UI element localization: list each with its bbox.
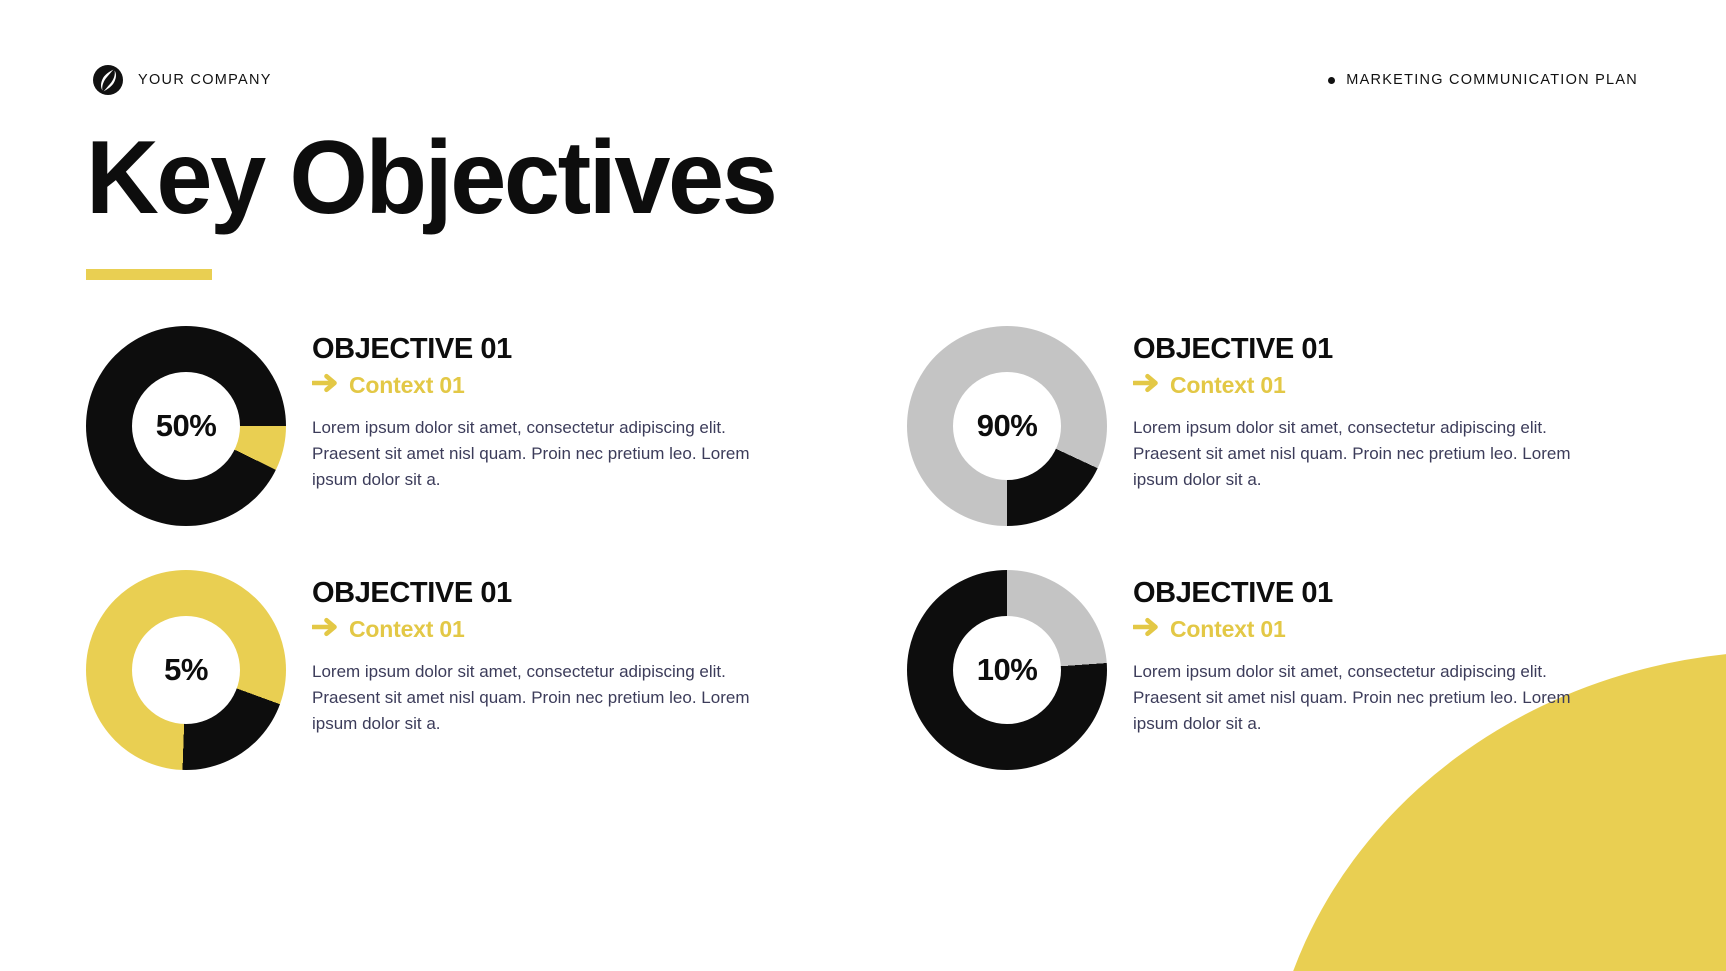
- slide: YOUR COMPANY MARKETING COMMUNICATION PLA…: [0, 0, 1726, 971]
- objective-text: OBJECTIVE 01 Context 01 Lorem ipsum dolo…: [1133, 322, 1603, 492]
- header-tagline: MARKETING COMMUNICATION PLAN: [1346, 72, 1638, 88]
- donut-center: 50%: [132, 372, 240, 480]
- objective-context-label: Context 01: [1170, 616, 1286, 643]
- page-title: Key Objectives: [86, 126, 775, 230]
- donut-value: 50%: [156, 408, 217, 444]
- donut-chart-3: 5%: [86, 570, 286, 770]
- objective-title: OBJECTIVE 01: [1133, 578, 1603, 610]
- donut-center: 10%: [953, 616, 1061, 724]
- donut-chart-1: 50%: [86, 326, 286, 526]
- arrow-right-icon: [312, 373, 338, 398]
- donut-chart-2: 90%: [907, 326, 1107, 526]
- donut-value: 90%: [977, 408, 1038, 444]
- donut-value: 10%: [977, 652, 1038, 688]
- bullet-dot-icon: [1328, 77, 1335, 84]
- objective-body: Lorem ipsum dolor sit amet, consectetur …: [1133, 659, 1603, 736]
- slide-header: YOUR COMPANY MARKETING COMMUNICATION PLA…: [92, 62, 1638, 98]
- objective-title: OBJECTIVE 01: [1133, 334, 1603, 366]
- objective-body: Lorem ipsum dolor sit amet, consectetur …: [312, 415, 782, 492]
- objective-body: Lorem ipsum dolor sit amet, consectetur …: [312, 659, 782, 736]
- objective-text: OBJECTIVE 01 Context 01 Lorem ipsum dolo…: [312, 566, 782, 736]
- objective-context-row: Context 01: [312, 372, 782, 399]
- objective-item: 90% OBJECTIVE 01 Context 01 Lorem ipsum …: [907, 322, 1642, 526]
- objective-body: Lorem ipsum dolor sit amet, consectetur …: [1133, 415, 1603, 492]
- objective-title: OBJECTIVE 01: [312, 578, 782, 610]
- objective-item: 50% OBJECTIVE 01 Context 01 Lorem ipsum …: [86, 322, 821, 526]
- arrow-right-icon: [312, 617, 338, 642]
- objective-context-label: Context 01: [1170, 372, 1286, 399]
- objective-context-label: Context 01: [349, 372, 465, 399]
- objective-text: OBJECTIVE 01 Context 01 Lorem ipsum dolo…: [1133, 566, 1603, 736]
- circle-slash-logo-icon: [92, 64, 124, 96]
- brand: YOUR COMPANY: [92, 64, 272, 96]
- objective-item: 10% OBJECTIVE 01 Context 01 Lorem ipsum …: [907, 566, 1642, 770]
- donut-chart-4: 10%: [907, 570, 1107, 770]
- donut-value: 5%: [164, 652, 208, 688]
- objectives-grid: 50% OBJECTIVE 01 Context 01 Lorem ipsum …: [86, 322, 1642, 770]
- objective-item: 5% OBJECTIVE 01 Context 01 Lorem ipsum d…: [86, 566, 821, 770]
- donut-center: 90%: [953, 372, 1061, 480]
- brand-name: YOUR COMPANY: [138, 72, 272, 88]
- title-block: Key Objectives: [86, 126, 797, 280]
- arrow-right-icon: [1133, 617, 1159, 642]
- donut-center: 5%: [132, 616, 240, 724]
- objective-context-row: Context 01: [1133, 372, 1603, 399]
- objective-text: OBJECTIVE 01 Context 01 Lorem ipsum dolo…: [312, 322, 782, 492]
- objective-context-row: Context 01: [312, 616, 782, 643]
- objective-context-row: Context 01: [1133, 616, 1603, 643]
- title-underline: [86, 269, 212, 280]
- objective-title: OBJECTIVE 01: [312, 334, 782, 366]
- header-tagline-group: MARKETING COMMUNICATION PLAN: [1328, 72, 1638, 88]
- objective-context-label: Context 01: [349, 616, 465, 643]
- arrow-right-icon: [1133, 373, 1159, 398]
